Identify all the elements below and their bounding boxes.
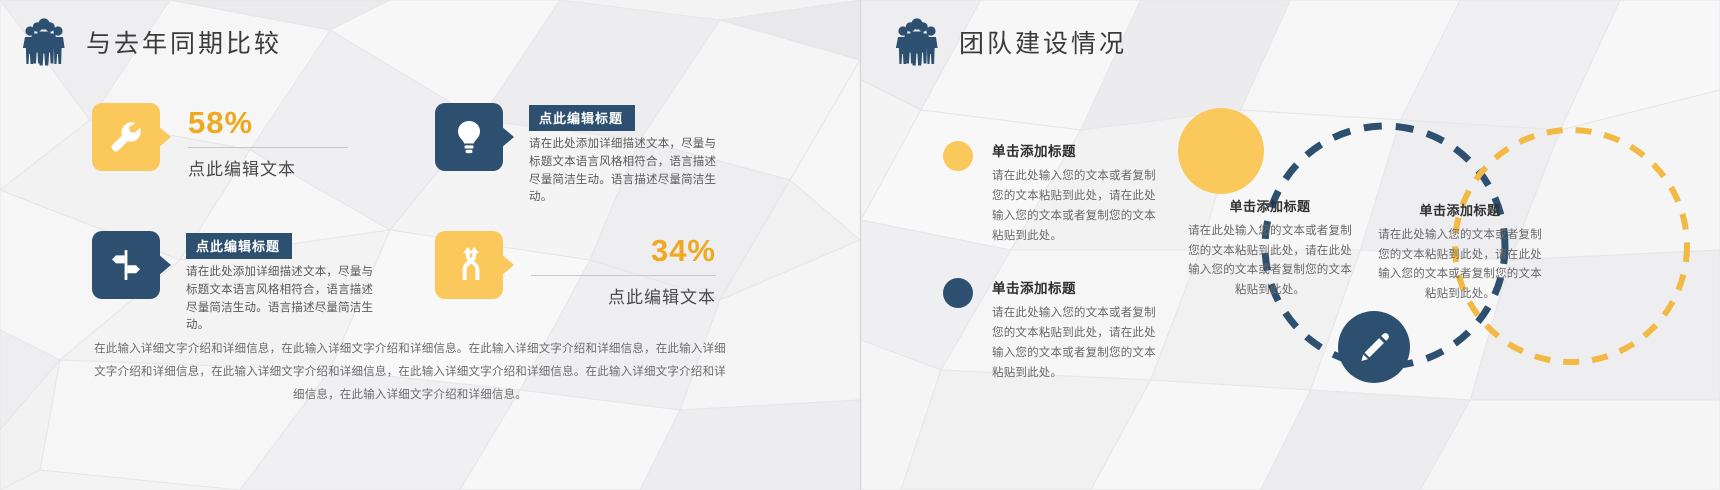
pencil-icon <box>1357 330 1391 364</box>
slide-deck: 与去年同期比较 58% 点此编辑文本 <box>0 0 1720 490</box>
pencil-badge[interactable] <box>1338 311 1410 383</box>
slide-left-header: 与去年同期比较 <box>22 18 282 66</box>
footer-description: 在此输入详细文字介绍和详细信息，在此输入详细文字介绍和详细信息。在此输入详细文字… <box>90 338 730 407</box>
stat-content-top-left: 58% 点此编辑文本 <box>188 103 348 180</box>
crossing-arrows-badge[interactable] <box>435 231 503 299</box>
lightbulb-badge[interactable] <box>435 103 503 171</box>
card-body: 请在此处添加详细描述文本，尽量与标题文本语言风格相符合，语言描述尽量简洁生动。语… <box>186 264 382 335</box>
list-item-title: 单击添加标题 <box>992 277 1158 297</box>
card-title: 点此编辑标题 <box>529 105 635 131</box>
list-item-title: 单击添加标题 <box>992 140 1158 160</box>
lightbulb-icon <box>449 117 489 157</box>
info-content-top-right: 点此编辑标题 请在此处添加详细描述文本，尽量与标题文本语言风格相符合，语言描述尽… <box>529 103 725 207</box>
stat-caption: 点此编辑文本 <box>188 155 348 180</box>
info-card-top-right[interactable]: 点此编辑标题 请在此处添加详细描述文本，尽量与标题文本语言风格相符合，语言描述尽… <box>435 103 725 207</box>
slide-left: 与去年同期比较 58% 点此编辑文本 <box>0 0 860 490</box>
signpost-icon <box>106 245 146 285</box>
stat-value: 34% <box>531 235 716 268</box>
list-item-content: 单击添加标题 请在此处输入您的文本或者复制您的文本粘贴到此处，请在此处输入您的文… <box>992 277 1158 384</box>
bullet-list: 单击添加标题 请在此处输入您的文本或者复制您的文本粘贴到此处，请在此处输入您的文… <box>943 140 1158 413</box>
wrench-badge[interactable] <box>92 103 160 171</box>
circle-title: 单击添加标题 <box>1186 196 1354 215</box>
list-item-content: 单击添加标题 请在此处输入您的文本或者复制您的文本粘贴到此处，请在此处输入您的文… <box>992 140 1158 247</box>
page-title: 团队建设情况 <box>959 24 1127 60</box>
slide-right-header: 团队建设情况 <box>895 18 1127 66</box>
circle-content-navy[interactable]: 单击添加标题 请在此处输入您的文本或者复制您的文本粘贴到此处，请在此处输入您的文… <box>1186 196 1354 300</box>
list-item-body: 请在此处输入您的文本或者复制您的文本粘贴到此处，请在此处输入您的文本或者复制您的… <box>992 303 1158 384</box>
info-card-bottom-left[interactable]: 点此编辑标题 请在此处添加详细描述文本，尽量与标题文本语言风格相符合，语言描述尽… <box>92 231 382 335</box>
divider-rule <box>188 147 348 148</box>
people-group-icon <box>895 18 939 66</box>
crossing-arrows-icon <box>449 245 489 285</box>
stat-value: 58% <box>188 107 348 140</box>
wrench-icon <box>106 117 146 157</box>
circle-content-yellow[interactable]: 单击添加标题 请在此处输入您的文本或者复制您的文本粘贴到此处，请在此处输入您的文… <box>1376 200 1544 304</box>
people-group-icon <box>22 18 66 66</box>
circle-body: 请在此处输入您的文本或者复制您的文本粘贴到此处，请在此处输入您的文本或者复制您的… <box>1186 222 1354 300</box>
list-item[interactable]: 单击添加标题 请在此处输入您的文本或者复制您的文本粘贴到此处，请在此处输入您的文… <box>943 140 1158 247</box>
bullet-dot-navy-icon <box>943 278 973 308</box>
stat-card-top-left[interactable]: 58% 点此编辑文本 <box>92 103 348 180</box>
circle-title: 单击添加标题 <box>1376 200 1544 219</box>
badge-tail <box>158 254 171 276</box>
stat-caption: 点此编辑文本 <box>531 283 716 308</box>
badge-tail <box>501 254 514 276</box>
badge-tail <box>501 126 514 148</box>
badge-tail <box>158 126 171 148</box>
card-body: 请在此处添加详细描述文本，尽量与标题文本语言风格相符合，语言描述尽量简洁生动。语… <box>529 136 725 207</box>
list-item-body: 请在此处输入您的文本或者复制您的文本粘贴到此处，请在此处输入您的文本或者复制您的… <box>992 166 1158 247</box>
stat-content-bottom-right: 34% 点此编辑文本 <box>531 231 716 308</box>
circle-body: 请在此处输入您的文本或者复制您的文本粘贴到此处，请在此处输入您的文本或者复制您的… <box>1376 226 1544 304</box>
signpost-badge[interactable] <box>92 231 160 299</box>
page-title: 与去年同期比较 <box>86 24 282 60</box>
card-title: 点此编辑标题 <box>186 233 292 259</box>
bullet-dot-yellow-icon <box>943 141 973 171</box>
divider-rule <box>531 275 716 276</box>
info-content-bottom-left: 点此编辑标题 请在此处添加详细描述文本，尽量与标题文本语言风格相符合，语言描述尽… <box>186 231 382 335</box>
list-item[interactable]: 单击添加标题 请在此处输入您的文本或者复制您的文本粘贴到此处，请在此处输入您的文… <box>943 277 1158 384</box>
stat-card-bottom-right[interactable]: 34% 点此编辑文本 <box>435 231 716 308</box>
yellow-circle-decoration <box>1178 108 1264 194</box>
